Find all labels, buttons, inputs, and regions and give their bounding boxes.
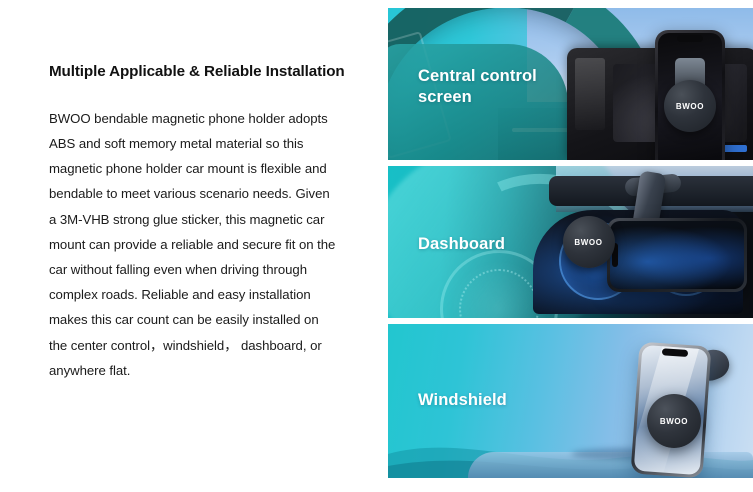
phone-screen-2 (610, 221, 744, 289)
panel-dashboard: BWOO Dashboard (388, 166, 753, 318)
magnetic-mount-disc-2: BWOO (563, 216, 615, 268)
section-description: BWOO bendable magnetic phone holder adop… (49, 106, 337, 383)
section-heading: Multiple Applicable & Reliable Installat… (49, 62, 346, 82)
panel-windshield: BWOO Windshield (388, 324, 753, 478)
panel-2-label: Dashboard (418, 234, 505, 255)
image-column: BWOO Central control screen BWOO Dashbo (386, 0, 753, 492)
panel-3-label: Windshield (418, 390, 507, 411)
text-column: Multiple Applicable & Reliable Installat… (0, 0, 386, 492)
panel-1-label: Central control screen (418, 66, 537, 108)
bwoo-logo-1: BWOO (676, 102, 704, 111)
phone-notch-1 (677, 35, 703, 42)
bwoo-logo-2: BWOO (574, 238, 602, 247)
magnetic-mount-disc-1: BWOO (664, 80, 716, 132)
phone-device-1: BWOO (655, 30, 725, 160)
phone-device-2 (607, 218, 747, 292)
product-feature-section: Multiple Applicable & Reliable Installat… (0, 0, 753, 492)
bwoo-logo-3: BWOO (660, 417, 688, 426)
magnetic-mount-disc-3: BWOO (647, 394, 701, 448)
panel-central-control-screen: BWOO Central control screen (388, 8, 753, 160)
